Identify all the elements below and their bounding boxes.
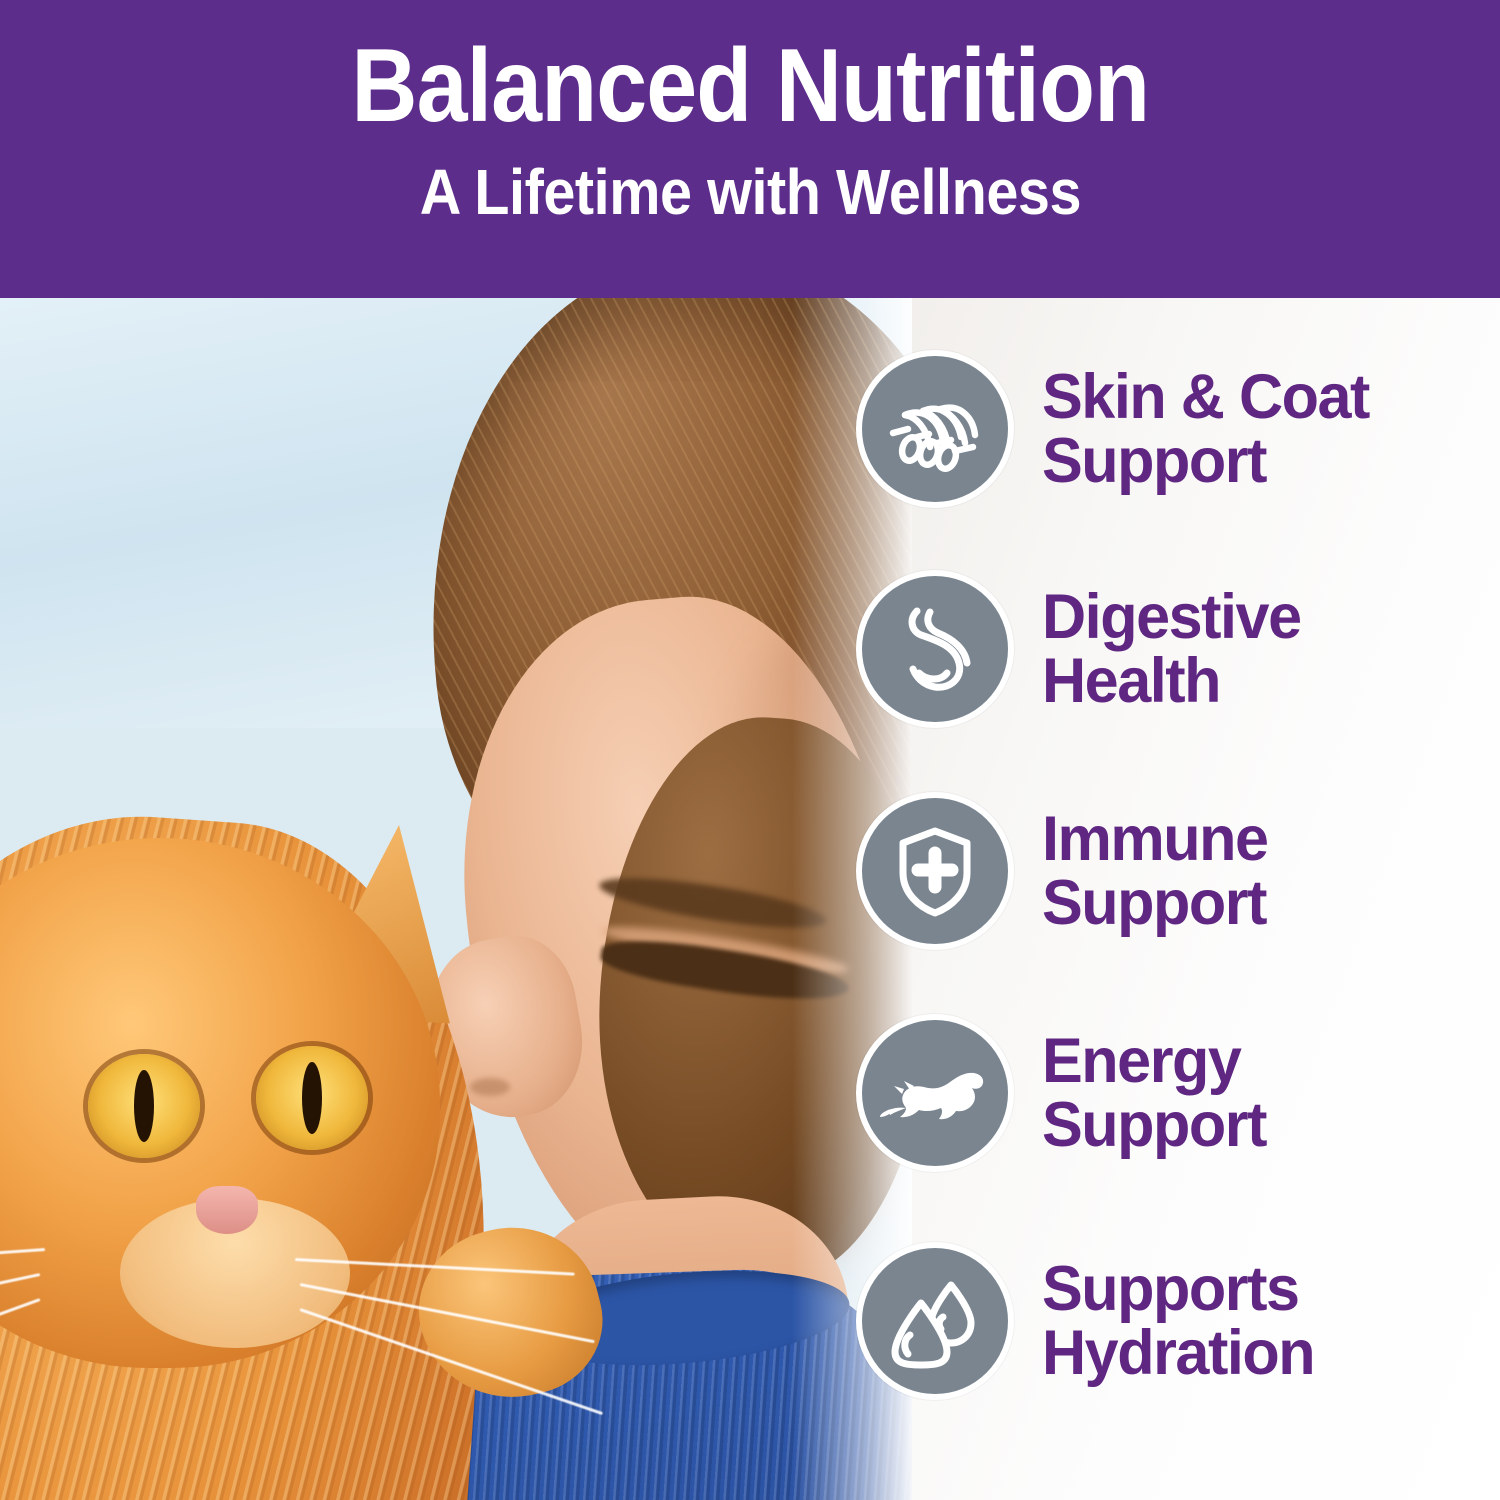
benefit-label: Skin & Coat Support — [1042, 365, 1369, 494]
page-title: Balanced Nutrition — [351, 34, 1149, 138]
benefit-label: Supports Hydration — [1042, 1257, 1314, 1386]
header-banner: Balanced Nutrition A Lifetime with Welln… — [0, 0, 1500, 298]
page-subtitle: A Lifetime with Wellness — [419, 160, 1080, 224]
benefits-list: Skin & Coat Support Digestive Health — [856, 298, 1500, 1500]
leaping-cat-icon — [862, 1020, 1008, 1166]
benefit-badge — [856, 350, 1014, 508]
benefit-badge — [856, 1242, 1014, 1400]
promo-banner-page: Balanced Nutrition A Lifetime with Welln… — [0, 0, 1500, 1500]
benefit-badge — [856, 792, 1014, 950]
stomach-icon — [862, 576, 1008, 722]
benefit-label: Energy Support — [1042, 1029, 1266, 1158]
photo-cat-pupil-right — [302, 1062, 322, 1134]
benefit-label: Immune Support — [1042, 807, 1268, 936]
photo-cat-pupil-left — [134, 1070, 154, 1142]
water-droplets-icon — [862, 1248, 1008, 1394]
benefit-row-skin-and-coat[interactable]: Skin & Coat Support — [856, 350, 1500, 508]
shield-cross-icon — [862, 798, 1008, 944]
benefit-badge — [856, 1014, 1014, 1172]
benefit-row-supports-hydration[interactable]: Supports Hydration — [856, 1242, 1500, 1400]
benefit-label: Digestive Health — [1042, 585, 1301, 714]
benefit-row-digestive-health[interactable]: Digestive Health — [856, 570, 1500, 728]
benefit-badge — [856, 570, 1014, 728]
photo-child-nostril — [470, 1078, 510, 1096]
hair-follicle-icon — [862, 356, 1008, 502]
photo-cat-nose — [196, 1186, 258, 1234]
benefit-row-energy-support[interactable]: Energy Support — [856, 1014, 1500, 1172]
hero-photo-child-with-cat — [0, 298, 912, 1500]
benefit-row-immune-support[interactable]: Immune Support — [856, 792, 1500, 950]
